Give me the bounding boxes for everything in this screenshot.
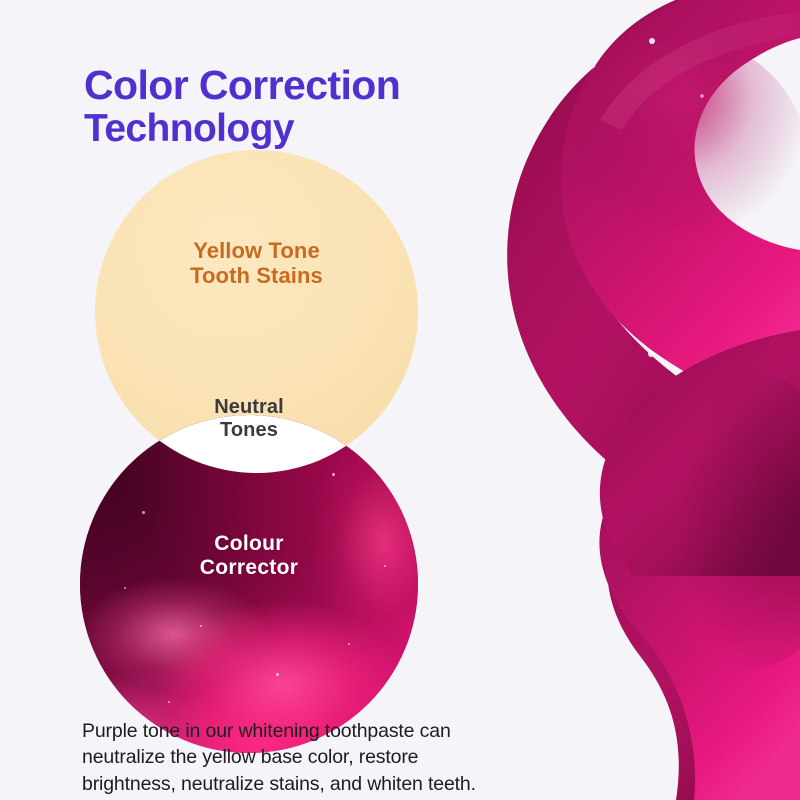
swirl-sparkle bbox=[700, 94, 704, 98]
description-line-3: brightness, neutralize stains, and white… bbox=[82, 771, 552, 798]
description-text: Purple tone in our whitening toothpaste … bbox=[82, 718, 552, 799]
swirl-rim-light bbox=[600, 12, 800, 130]
venn-diagram: Yellow Tone Tooth Stains Neutral Tones C… bbox=[60, 140, 460, 700]
swirl-sparkle bbox=[648, 351, 654, 357]
venn-label-neutral-tones: Neutral Tones bbox=[80, 396, 418, 442]
swirl-upper-hook bbox=[507, 0, 800, 560]
venn-label-colour-corrector: Colour Corrector bbox=[80, 532, 418, 580]
description-line-2: neutralize the yellow base color, restor… bbox=[82, 744, 552, 771]
description-line-1: Purple tone in our whitening toothpaste … bbox=[82, 718, 552, 745]
venn-overlap-neutral-tones bbox=[80, 415, 418, 753]
page-title: Color Correction Technology bbox=[84, 65, 514, 149]
product-infographic: Color Correction Technology Yellow Tone … bbox=[0, 0, 800, 800]
venn-label-yellow-tone: Yellow Tone Tooth Stains bbox=[95, 238, 418, 289]
page-title-line-1: Color Correction bbox=[84, 65, 514, 107]
swirl-midsection bbox=[600, 330, 800, 576]
swirl-lower-tail bbox=[607, 420, 800, 800]
swirl-lower-body bbox=[599, 420, 800, 800]
swirl-highlight-top bbox=[570, 40, 800, 300]
swirl-sparkle bbox=[649, 38, 655, 44]
swirl-shadow-lower bbox=[634, 370, 800, 670]
swirl-upper-body bbox=[561, 0, 800, 418]
